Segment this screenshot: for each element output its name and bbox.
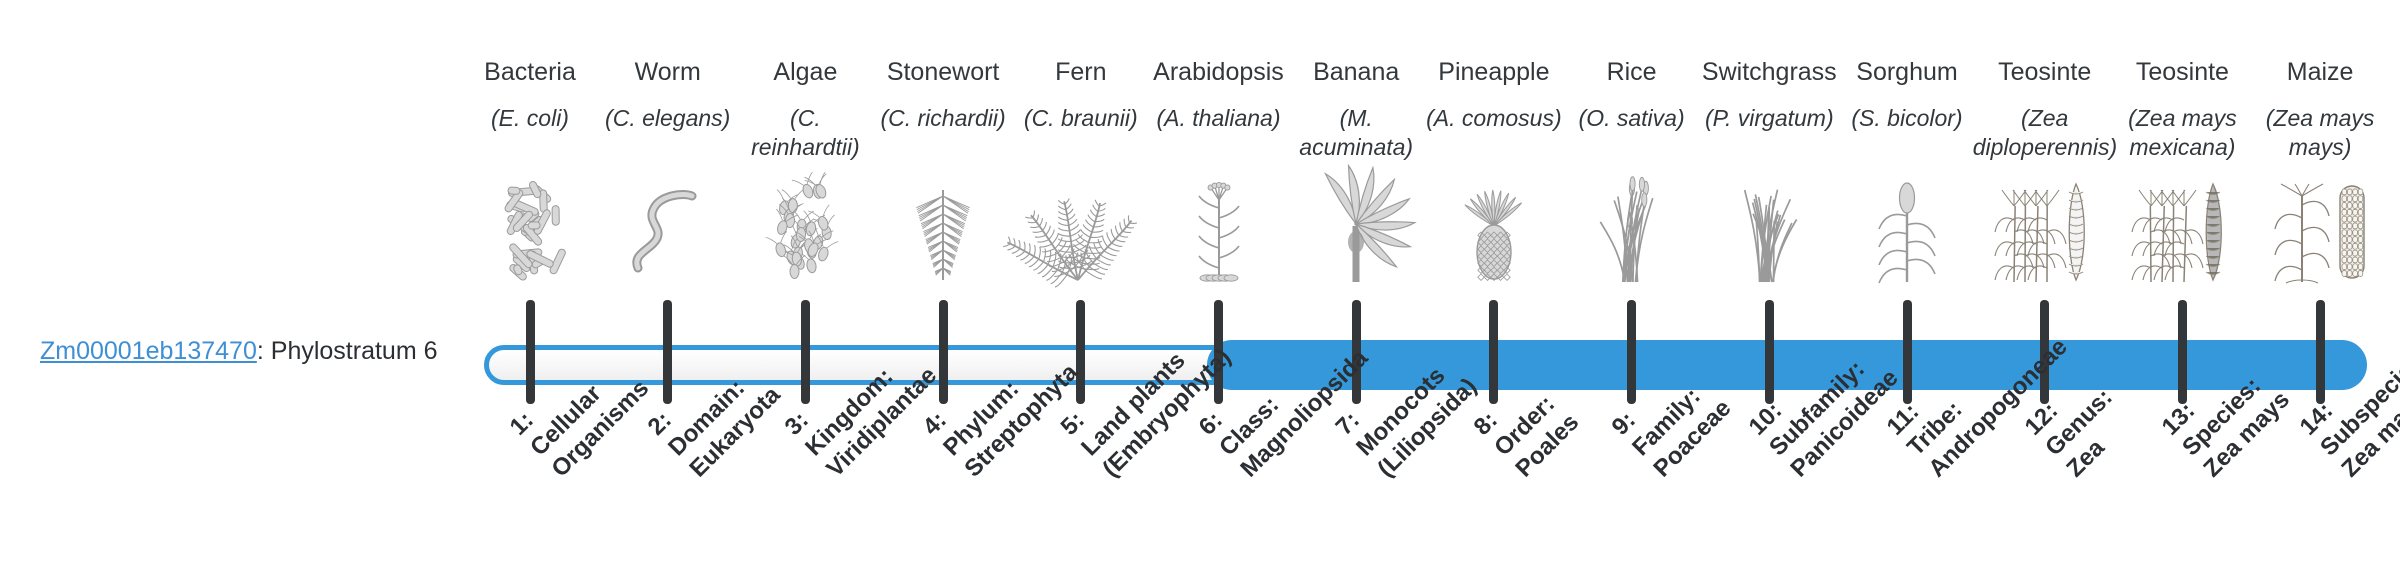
stonewort-icon — [875, 172, 1011, 284]
teosinte-mexicana-icon — [2114, 172, 2250, 284]
species-common-name: Stonewort — [871, 56, 1015, 88]
worm-icon — [600, 172, 736, 284]
species-header-sorghum-11: Sorghum(S. bicolor) — [1835, 56, 1979, 133]
species-common-name: Fern — [1009, 56, 1153, 88]
species-latin-name: (Zea diploperennis) — [1973, 104, 2117, 163]
species-latin-name: (O. sativa) — [1560, 104, 1704, 133]
species-latin-name: (A. comosus) — [1422, 104, 1566, 133]
species-latin-name: (A. thaliana) — [1147, 104, 1291, 133]
species-header-teosinte-12: Teosinte(Zea diploperennis) — [1973, 56, 2117, 163]
species-common-name: Sorghum — [1835, 56, 1979, 88]
gene-phylostratum-value: Phylostratum 6 — [271, 337, 438, 365]
species-header-rice-9: Rice(O. sativa) — [1560, 56, 1704, 133]
banana-icon — [1288, 172, 1424, 284]
species-latin-name: (C. richardii) — [871, 104, 1015, 133]
bacteria-icon — [462, 172, 598, 284]
species-common-name: Pineapple — [1422, 56, 1566, 88]
tick-mark-14 — [2316, 300, 2325, 404]
species-latin-name: (S. bicolor) — [1835, 104, 1979, 133]
tick-mark-8 — [1489, 300, 1498, 404]
species-common-name: Teosinte — [2110, 56, 2254, 88]
pineapple-icon — [1426, 172, 1562, 284]
species-common-name: Rice — [1560, 56, 1704, 88]
rice-icon — [1564, 172, 1700, 284]
arabidopsis-icon — [1151, 172, 1287, 284]
algae-icon — [737, 172, 873, 284]
species-common-name: Maize — [2248, 56, 2392, 88]
species-header-maize-14: Maize(Zea mays mays) — [2248, 56, 2392, 163]
species-common-name: Switchgrass — [1697, 56, 1841, 88]
species-common-name: Arabidopsis — [1147, 56, 1291, 88]
gene-id-link[interactable]: Zm00001eb137470 — [40, 337, 257, 365]
gene-phylostratum-label: Zm00001eb137470: Phylostratum 6 — [40, 337, 460, 366]
tick-mark-10 — [1765, 300, 1774, 404]
species-header-fern-5: Fern(C. braunii) — [1009, 56, 1153, 133]
species-common-name: Algae — [733, 56, 877, 88]
tick-mark-3 — [801, 300, 810, 404]
tick-mark-11 — [1903, 300, 1912, 404]
tick-mark-5 — [1076, 300, 1085, 404]
species-latin-name: (Zea mays mexicana) — [2110, 104, 2254, 163]
maize-icon — [2252, 172, 2388, 284]
species-header-arabidopsis-6: Arabidopsis(A. thaliana) — [1147, 56, 1291, 133]
species-latin-name: (P. virgatum) — [1697, 104, 1841, 133]
species-header-stonewort-4: Stonewort(C. richardii) — [871, 56, 1015, 133]
species-latin-name: (C. reinhardtii) — [733, 104, 877, 163]
species-header-pineapple-8: Pineapple(A. comosus) — [1422, 56, 1566, 133]
species-header-switchgrass-10: Switchgrass(P. virgatum) — [1697, 56, 1841, 133]
species-common-name: Banana — [1284, 56, 1428, 88]
species-header-teosinte-13: Teosinte(Zea mays mexicana) — [2110, 56, 2254, 163]
species-header-worm-2: Worm(C. elegans) — [596, 56, 740, 133]
species-latin-name: (M. acuminata) — [1284, 104, 1428, 163]
tick-mark-13 — [2178, 300, 2187, 404]
species-latin-name: (C. braunii) — [1009, 104, 1153, 133]
fern-icon — [1013, 172, 1149, 284]
species-latin-name: (C. elegans) — [596, 104, 740, 133]
phylostratum-visualization: Zm00001eb137470: Phylostratum 6 Bacteria… — [0, 0, 2400, 580]
species-header-algae-3: Algae(C. reinhardtii) — [733, 56, 877, 163]
species-header-bacteria-1: Bacteria(E. coli) — [458, 56, 602, 133]
tick-mark-1 — [526, 300, 535, 404]
gene-label-separator: : — [257, 337, 271, 365]
tick-mark-9 — [1627, 300, 1636, 404]
teosinte-diploperennis-icon — [1977, 172, 2113, 284]
switchgrass-icon — [1701, 172, 1837, 284]
species-common-name: Teosinte — [1973, 56, 2117, 88]
tick-mark-4 — [939, 300, 948, 404]
species-header-banana-7: Banana(M. acuminata) — [1284, 56, 1428, 163]
tick-mark-2 — [663, 300, 672, 404]
sorghum-icon — [1839, 172, 1975, 284]
species-common-name: Bacteria — [458, 56, 602, 88]
species-latin-name: (Zea mays mays) — [2248, 104, 2392, 163]
species-common-name: Worm — [596, 56, 740, 88]
species-latin-name: (E. coli) — [458, 104, 602, 133]
